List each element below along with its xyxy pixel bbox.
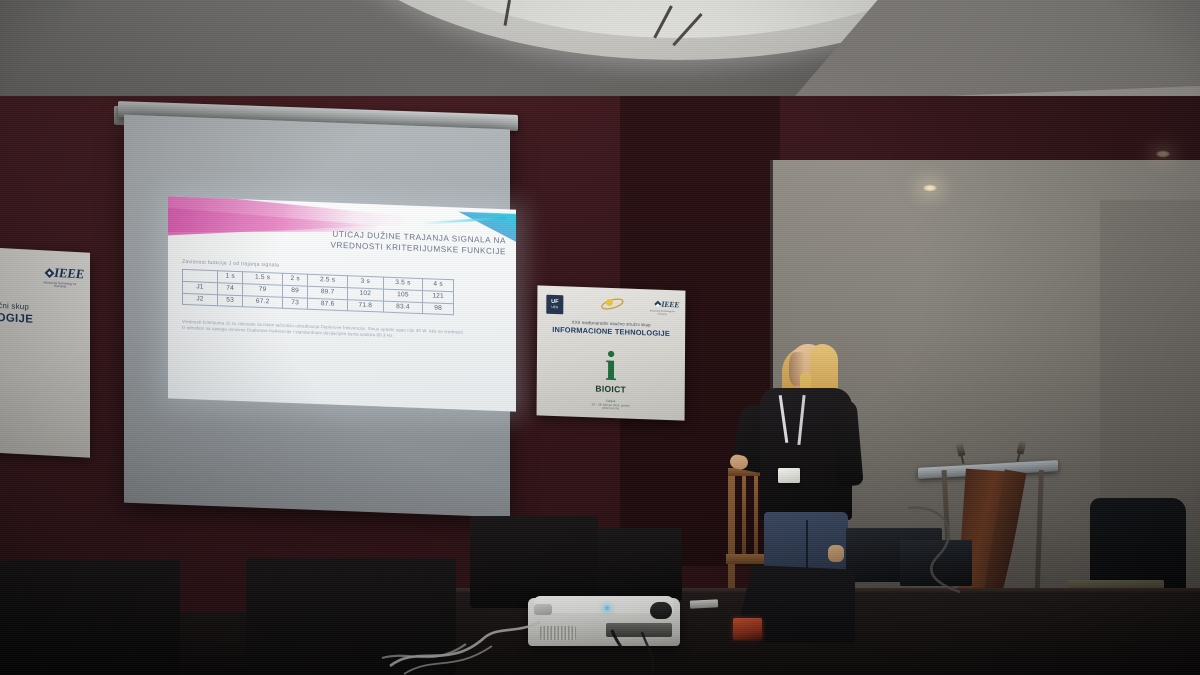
poster-left-line2: OLOGIJE xyxy=(0,311,33,326)
table-header-cell: 1 s xyxy=(218,271,243,284)
projector-power-led-icon xyxy=(605,606,609,610)
table-cell: 83.4 xyxy=(383,301,423,314)
chair-slat xyxy=(742,476,746,554)
chair-slat xyxy=(754,476,758,554)
table-row-label: J2 xyxy=(183,293,218,306)
university-logo-icon: UF UEG xyxy=(546,295,563,315)
slide-footnote: Vrednosti kriterijuma J1 su računate sa … xyxy=(182,319,464,342)
presenter-name-badge xyxy=(778,468,800,483)
slide-title: Uticaj dužine trajanja signala na vredno… xyxy=(288,227,506,257)
ieee-tagline: Advancing Technology for Humanity xyxy=(645,310,679,316)
projector-cable xyxy=(598,628,688,675)
poster-left-line1: stručni skup xyxy=(0,300,29,311)
ieee-tagline: Advancing Technology for Humanity xyxy=(37,281,83,290)
table-cell: 53 xyxy=(218,294,243,307)
ieee-diamond-icon xyxy=(44,268,54,278)
table-cell: 67.2 xyxy=(243,295,283,308)
university-mark-sub: UEG xyxy=(551,305,558,309)
slide-subtitle: Zavisnost funkcije J od trajanja signala xyxy=(182,259,279,269)
table-cell: 89 xyxy=(282,285,307,298)
ieee-logo-icon: IEEE xyxy=(655,300,679,310)
poster-right: UF UEG IEEE Advancing Technology for Hum… xyxy=(537,285,686,420)
table-cell: 74 xyxy=(218,282,243,295)
ieee-wordmark: IEEE xyxy=(54,265,84,283)
cable-bundle xyxy=(380,604,550,675)
computer-mouse[interactable] xyxy=(650,602,672,619)
poster-left: IEEE Advancing Technology for Humanity s… xyxy=(0,247,90,457)
projected-slide: Uticaj dužine trajanja signala na vredno… xyxy=(168,196,516,411)
coiled-cable xyxy=(898,500,988,600)
recessed-downlight-icon xyxy=(1155,150,1171,158)
table-cell: 73 xyxy=(282,297,307,310)
ieee-wordmark: IEEE xyxy=(661,300,679,310)
conference-swirl-icon xyxy=(600,296,624,313)
recessed-downlight-icon xyxy=(922,184,938,192)
poster-right-footer: Žabljak 24. - 28. februar 2014. godine w… xyxy=(537,397,685,413)
table-header-cell: 2 s xyxy=(282,273,307,286)
slide-data-table: 1 s1.5 s2 s2.5 s3 s3.5 s4 sJ174798989.71… xyxy=(182,269,454,316)
audience-chair xyxy=(0,560,180,675)
audience-chair xyxy=(598,528,682,602)
presentation-room-photo: Uticaj dužine trajanja signala na vredno… xyxy=(0,0,1200,675)
audience-chair xyxy=(470,516,598,608)
smartphone[interactable] xyxy=(733,618,762,640)
presenter-right-hand xyxy=(828,545,844,562)
ieee-diamond-icon xyxy=(654,301,661,308)
paper-sheet xyxy=(690,599,718,608)
bioict-letter: i xyxy=(605,349,617,385)
table-cell: 71.8 xyxy=(347,299,383,312)
table-cell: 98 xyxy=(423,302,454,315)
table-cell: 87.6 xyxy=(308,298,348,311)
